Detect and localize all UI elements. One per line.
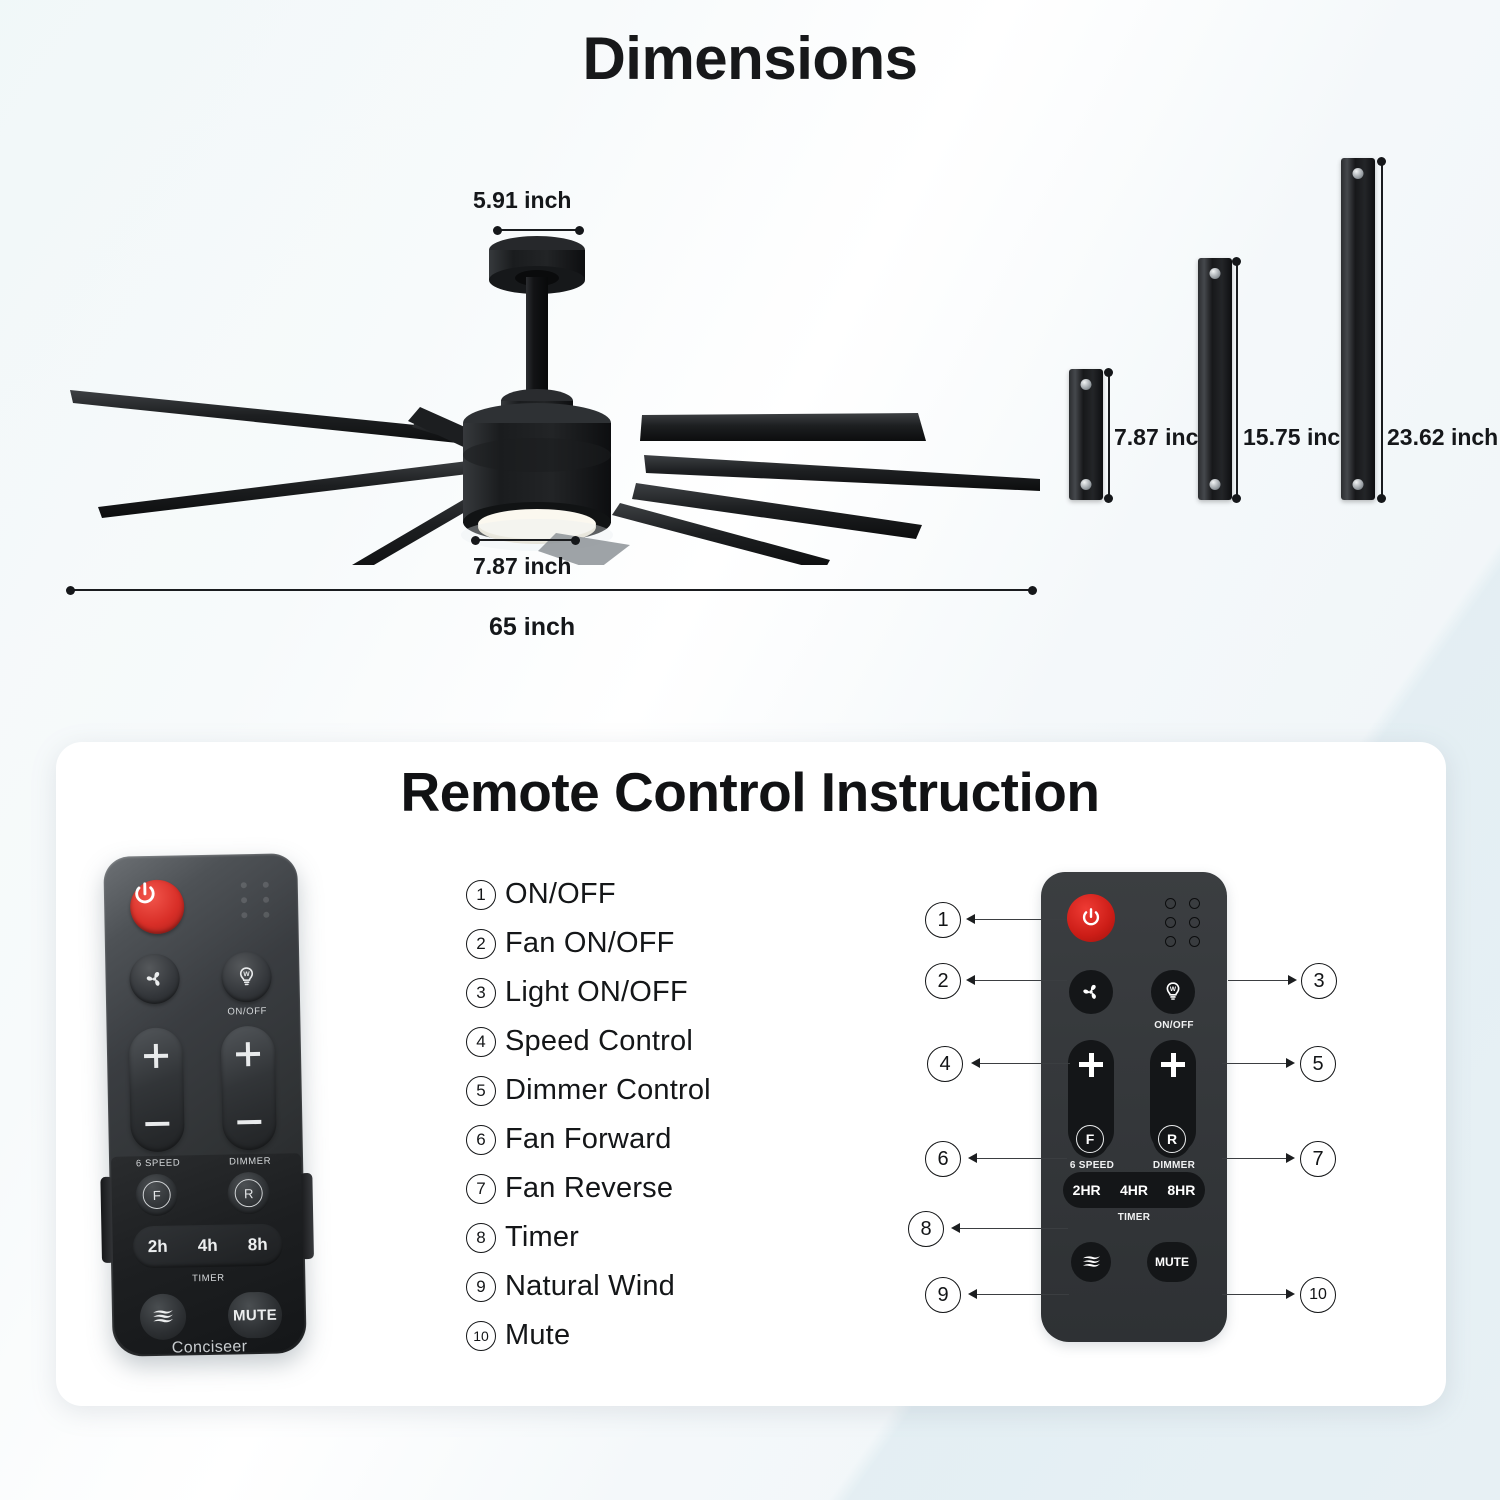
arrow-7 [1286, 1153, 1295, 1163]
callout-3: 3 [1301, 963, 1337, 999]
dim-dot-rod-short-bottom [1104, 494, 1113, 503]
natural-wind-icon [150, 1304, 176, 1330]
dimmer-control-pill[interactable] [220, 1026, 276, 1151]
feature-label: ON/OFF [505, 878, 616, 911]
arrow-1 [966, 914, 975, 924]
timer-option-4h[interactable]: 4h [198, 1236, 218, 1256]
dim-dot-housing-left [471, 536, 480, 545]
leader-line-2 [975, 980, 1067, 981]
diagram-speed-caption: 6 SPEED [1054, 1160, 1130, 1171]
dim-dot-rod-medium-top [1232, 257, 1241, 266]
list-item: 8Timer [466, 1213, 796, 1262]
svg-text:W: W [1170, 986, 1177, 993]
arrow-2 [966, 975, 975, 985]
svg-text:W: W [243, 971, 250, 978]
diagram-natural-wind-button[interactable] [1071, 1242, 1111, 1282]
leader-line-5 [1222, 1063, 1288, 1064]
list-item: 5Dimmer Control [466, 1066, 796, 1115]
feature-label: Fan Reverse [505, 1172, 673, 1205]
feature-number: 1 [466, 880, 496, 910]
power-icon [130, 880, 161, 911]
timer-caption: TIMER [167, 1272, 249, 1285]
feature-label: Fan Forward [505, 1123, 672, 1156]
feature-label: Light ON/OFF [505, 976, 688, 1009]
callout-7: 7 [1300, 1141, 1336, 1177]
brand-label: Conciseer [113, 1337, 307, 1359]
arrow-3 [1288, 975, 1297, 985]
feature-number: 3 [466, 978, 496, 1008]
leader-line-3 [1228, 980, 1290, 981]
callout-8: 8 [908, 1211, 944, 1247]
light-button-caption: ON/OFF [206, 1005, 288, 1018]
dim-dot-canopy-left [493, 226, 502, 235]
feature-number: 9 [466, 1272, 496, 1302]
downrod-medium [1198, 258, 1232, 500]
feature-label: Mute [505, 1319, 570, 1352]
diagram-timer-group[interactable]: 2HR 4HR 8HR [1063, 1172, 1205, 1208]
dim-line-rod-short [1108, 371, 1110, 498]
feature-number: 2 [466, 929, 496, 959]
callout-6: 6 [925, 1141, 961, 1177]
physical-remote-photo: W ON/OFF 6 SPEED DIMMER F R 2h 4h 8h TIM… [103, 853, 307, 1357]
feature-label: Dimmer Control [505, 1074, 711, 1107]
speed-control-pill[interactable] [129, 1027, 185, 1152]
remote-diagram: W ON/OFF 6 SPEED DIMMER F R 2HR 4HR 8HR … [1041, 872, 1227, 1342]
lightbulb-w-icon: W [233, 964, 259, 990]
forward-label: F [1076, 1125, 1104, 1153]
downrod-medium-hole-top [1210, 268, 1221, 279]
power-button[interactable] [130, 879, 185, 934]
dim-line-canopy [497, 229, 579, 231]
reverse-label: R [234, 1179, 263, 1208]
timer-option-4hr[interactable]: 4HR [1120, 1182, 1148, 1198]
page-title-dimensions: Dimensions [0, 24, 1500, 93]
dim-line-housing [475, 539, 575, 541]
dim-dot-canopy-right [575, 226, 584, 235]
reverse-label: R [1158, 1125, 1186, 1153]
light-onoff-button[interactable]: W [221, 952, 272, 1003]
callout-5: 5 [1300, 1046, 1336, 1082]
feature-number: 7 [466, 1174, 496, 1204]
dim-dot-rod-long-top [1377, 157, 1386, 166]
feature-number: 6 [466, 1125, 496, 1155]
infographic-canvas: Dimensions [0, 0, 1500, 1500]
leader-line-7 [1222, 1158, 1288, 1159]
speed-increase-icon[interactable] [1079, 1062, 1103, 1067]
speed-increase-icon[interactable] [144, 1054, 168, 1058]
arrow-9 [968, 1289, 977, 1299]
downrod-medium-hole-bottom [1210, 479, 1221, 490]
dim-line-rod-medium [1236, 261, 1238, 499]
arrow-4 [971, 1058, 980, 1068]
list-item: 4Speed Control [466, 1017, 796, 1066]
diagram-ir-dots [1165, 898, 1205, 947]
dim-label-rod-long: 23.62 inch [1387, 424, 1498, 451]
diagram-power-button[interactable] [1067, 894, 1115, 942]
diagram-timer-caption: TIMER [1095, 1212, 1173, 1223]
downrod-short [1069, 369, 1103, 500]
list-item: 3Light ON/OFF [466, 968, 796, 1017]
speed-decrease-icon[interactable] [145, 1122, 169, 1126]
diagram-light-button[interactable]: W [1151, 970, 1195, 1014]
callout-1: 1 [925, 902, 961, 938]
feature-number: 4 [466, 1027, 496, 1057]
leader-line-9 [977, 1294, 1069, 1295]
leader-line-1 [975, 919, 1067, 920]
feature-label: Speed Control [505, 1025, 693, 1058]
natural-wind-icon [1079, 1250, 1103, 1274]
callout-4: 4 [927, 1046, 963, 1082]
downrod-long-hole-top [1353, 168, 1364, 179]
diagram-dimmer-caption: DIMMER [1135, 1160, 1213, 1171]
downrod-long [1341, 158, 1375, 500]
dim-dot-span-left [66, 586, 75, 595]
list-item: 1ON/OFF [466, 870, 796, 919]
feature-number: 10 [466, 1321, 496, 1351]
arrow-5 [1286, 1058, 1295, 1068]
feature-number: 5 [466, 1076, 496, 1106]
section-title-remote: Remote Control Instruction [0, 760, 1500, 824]
list-item: 7Fan Reverse [466, 1164, 796, 1213]
callout-2: 2 [925, 963, 961, 999]
list-item: 10Mute [466, 1311, 796, 1360]
timer-option-2h[interactable]: 2h [148, 1237, 168, 1257]
arrow-6 [968, 1153, 977, 1163]
list-item: 9Natural Wind [466, 1262, 796, 1311]
lightbulb-w-icon: W [1160, 979, 1186, 1005]
speed-caption: 6 SPEED [117, 1157, 199, 1170]
downrod-short-hole-bottom [1081, 479, 1092, 490]
dim-dot-rod-short-top [1104, 368, 1113, 377]
downrod-long-hole-bottom [1353, 479, 1364, 490]
list-item: 2Fan ON/OFF [466, 919, 796, 968]
dimmer-caption: DIMMER [209, 1155, 291, 1168]
fan-icon [1078, 979, 1104, 1005]
timer-option-8hr[interactable]: 8HR [1167, 1182, 1195, 1198]
diagram-forward-button[interactable]: F [1071, 1120, 1109, 1158]
dim-label-canopy: 5.91 inch [473, 187, 571, 214]
list-item: 6Fan Forward [466, 1115, 796, 1164]
dim-dot-span-right [1028, 586, 1037, 595]
dimmer-increase-icon[interactable] [236, 1052, 260, 1056]
feature-label: Natural Wind [505, 1270, 675, 1303]
dim-label-rod-medium: 15.75 inch [1243, 424, 1354, 451]
leader-line-4 [980, 1063, 1070, 1064]
power-icon [1078, 905, 1104, 931]
leader-line-6 [977, 1158, 1067, 1159]
feature-number: 8 [466, 1223, 496, 1253]
ceiling-fan-illustration [40, 215, 1050, 565]
diagram-mute-button[interactable]: MUTE [1147, 1242, 1197, 1282]
dimmer-increase-icon[interactable] [1161, 1062, 1185, 1067]
downrod-short-hole-top [1081, 379, 1092, 390]
forward-label: F [142, 1181, 171, 1210]
arrow-10 [1286, 1289, 1295, 1299]
dim-label-housing: 7.87 inch [473, 553, 571, 580]
feature-label: Timer [505, 1221, 579, 1254]
dim-dot-rod-long-bottom [1377, 494, 1386, 503]
dim-line-span [70, 589, 1032, 591]
callout-10: 10 [1300, 1277, 1336, 1313]
diagram-light-caption: ON/OFF [1135, 1020, 1213, 1031]
dimmer-decrease-icon[interactable] [237, 1120, 261, 1124]
diagram-fan-button[interactable] [1069, 970, 1113, 1014]
timer-option-2hr[interactable]: 2HR [1073, 1182, 1101, 1198]
leader-line-8 [960, 1228, 1068, 1229]
diagram-reverse-button[interactable]: R [1153, 1120, 1191, 1158]
fan-icon [141, 966, 167, 992]
callout-9: 9 [925, 1277, 961, 1313]
dim-label-span: 65 inch [489, 613, 575, 642]
leader-line-10 [1222, 1294, 1288, 1295]
dim-dot-rod-medium-bottom [1232, 494, 1241, 503]
dim-dot-housing-right [571, 536, 580, 545]
arrow-8 [951, 1223, 960, 1233]
mute-button[interactable]: MUTE [228, 1292, 283, 1339]
timer-option-8h[interactable]: 8h [248, 1235, 268, 1255]
feature-list: 1ON/OFF 2Fan ON/OFF 3Light ON/OFF 4Speed… [466, 870, 796, 1360]
timer-button-group[interactable]: 2h 4h 8h [132, 1224, 283, 1269]
fan-onoff-button[interactable] [129, 953, 180, 1004]
dim-line-rod-long [1381, 161, 1383, 499]
ir-emitter-dots [241, 882, 277, 919]
feature-label: Fan ON/OFF [505, 927, 675, 960]
